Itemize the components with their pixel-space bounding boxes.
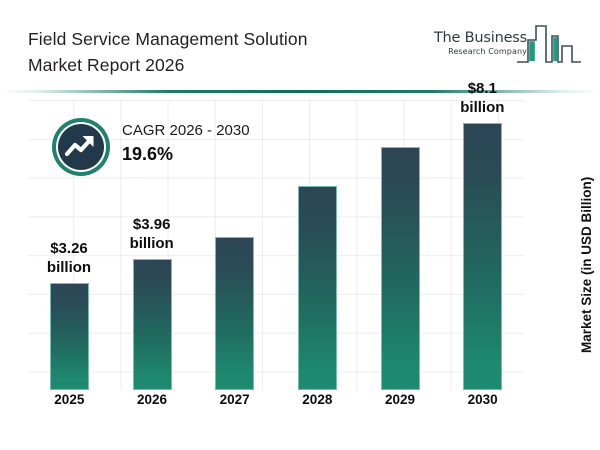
bar-value-unit-2026: billion — [103, 234, 201, 253]
trending-up-icon — [52, 118, 110, 176]
cagr-text-block: CAGR 2026 - 2030 19.6% — [122, 120, 322, 166]
x-tick-2028: 2028 — [277, 392, 357, 407]
bar-2030[interactable] — [463, 123, 502, 390]
bar-value-unit-2030: billion — [433, 98, 531, 117]
header: Field Service Management Solution Market… — [0, 0, 600, 90]
cagr-value: 19.6% — [122, 142, 322, 166]
logo-wordmark: The Business Research Company — [422, 30, 527, 56]
x-axis-tick-labels: 202520262027202820292030 — [28, 392, 524, 414]
x-tick-2030: 2030 — [443, 392, 523, 407]
bar-slot-2030: $8.1billion — [441, 100, 524, 390]
bar-2029[interactable] — [381, 147, 420, 390]
page-title-line-2: Market Report 2026 — [28, 52, 398, 78]
x-tick-2029: 2029 — [360, 392, 440, 407]
cagr-arrow-glyph — [58, 124, 104, 170]
page-title-line-1: Field Service Management Solution — [28, 26, 398, 52]
bar-value-label-2030: $8.1billion — [433, 79, 531, 117]
bar-2025[interactable] — [50, 283, 89, 390]
x-tick-2025: 2025 — [29, 392, 109, 407]
company-logo: The Business Research Company — [422, 22, 582, 74]
bar-slot-2029 — [359, 100, 442, 390]
bar-value-unit-2025: billion — [20, 258, 118, 277]
logo-secondary-text: Research Company — [422, 47, 527, 56]
page-title: Field Service Management Solution Market… — [28, 26, 398, 78]
bar-2026[interactable] — [133, 259, 172, 390]
bar-2027[interactable] — [215, 237, 254, 390]
bar-value-label-2026: $3.96billion — [103, 215, 201, 253]
y-axis-title: Market Size (in USD Billion) — [578, 140, 596, 390]
cagr-range-label: CAGR 2026 - 2030 — [122, 120, 322, 142]
market-report-infographic: Field Service Management Solution Market… — [0, 0, 600, 450]
x-tick-2027: 2027 — [195, 392, 275, 407]
x-tick-2026: 2026 — [112, 392, 192, 407]
bar-value-amount-2030: $8.1 — [433, 79, 531, 98]
bar-value-amount-2026: $3.96 — [103, 215, 201, 234]
logo-primary-text: The Business — [422, 30, 527, 46]
bar-2028[interactable] — [298, 186, 337, 390]
bar-chart-logo-mark-icon — [516, 22, 582, 68]
